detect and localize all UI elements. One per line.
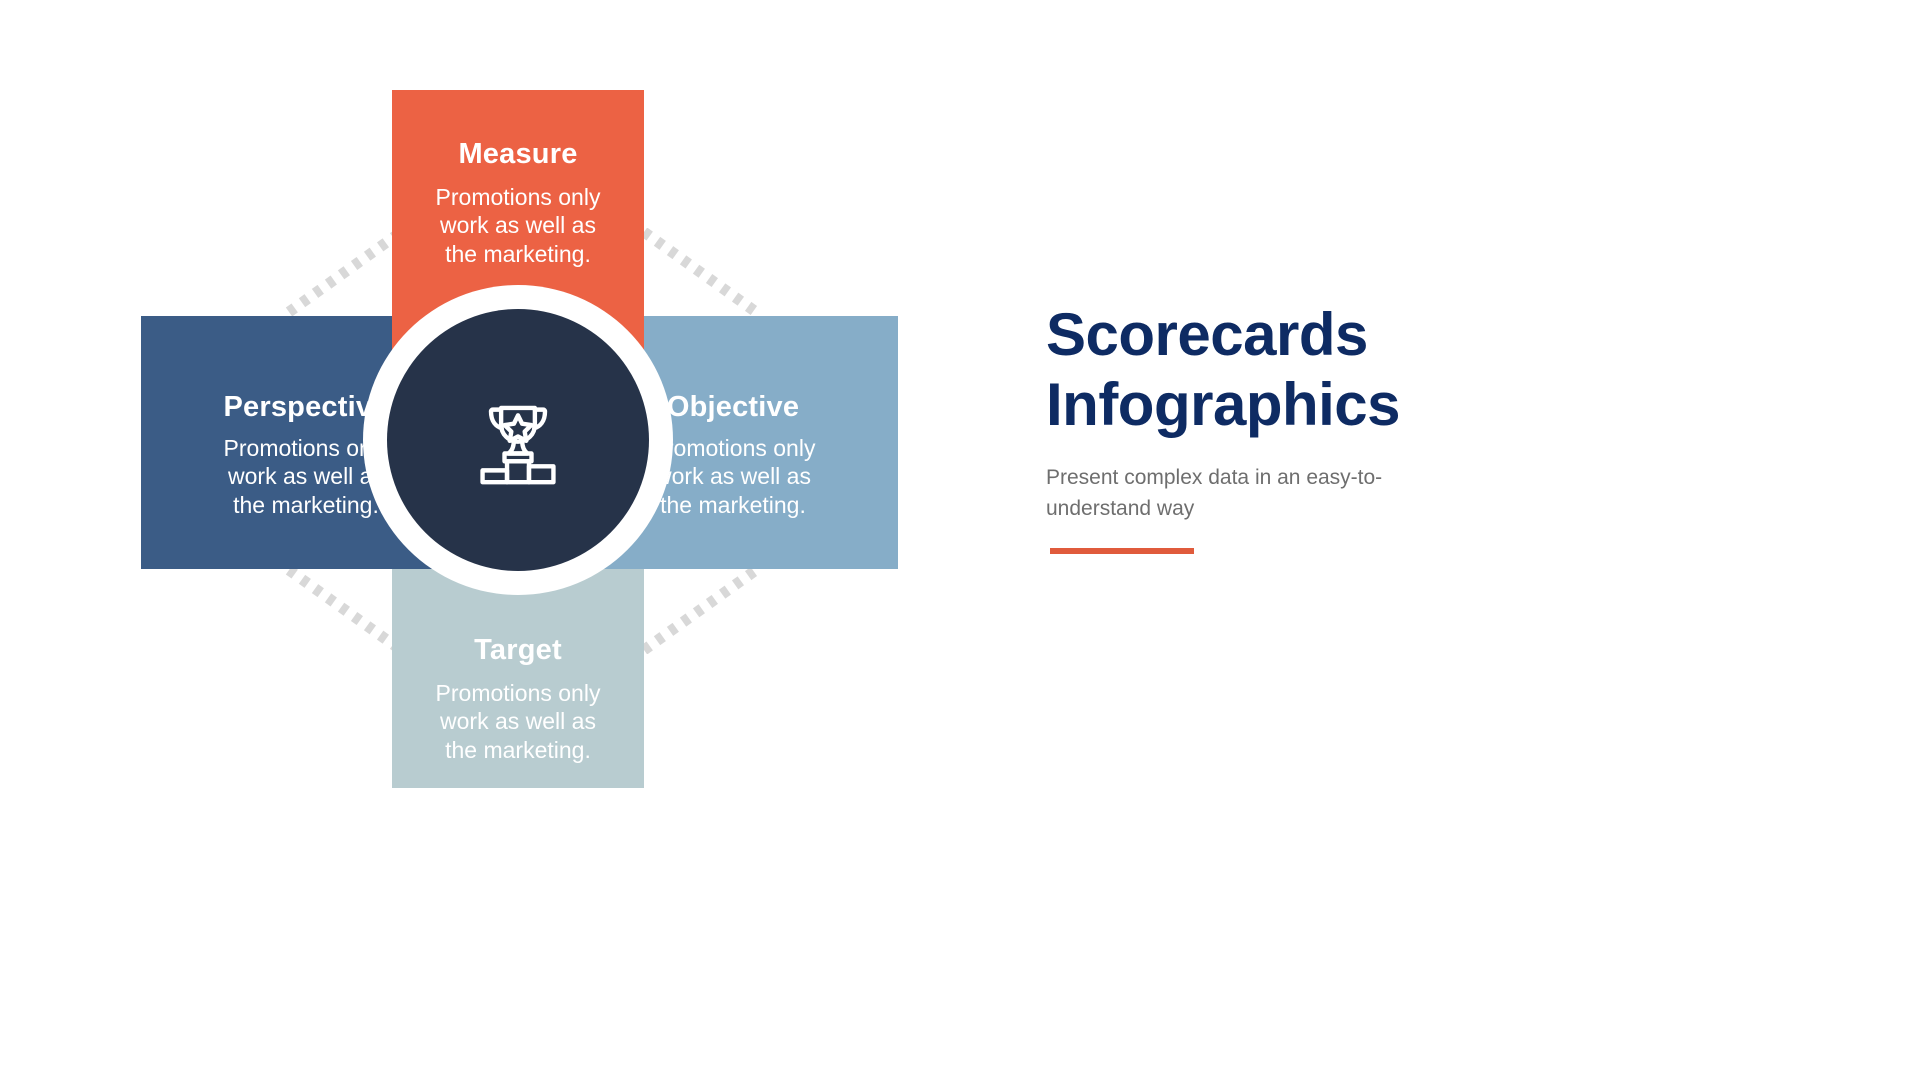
panel-target-body-line-1: Promotions only: [436, 679, 601, 707]
panel-target-body: Promotions only work as well as the mark…: [436, 679, 601, 764]
dotted-connector-bottom-left: [285, 566, 405, 654]
page-title-line-1: Scorecards: [1046, 300, 1486, 370]
panel-measure-body-line-1: Promotions only: [436, 183, 601, 211]
headline-block: Scorecards Infographics Present complex …: [1046, 300, 1486, 524]
slide-canvas: Target Promotions only work as well as t…: [0, 0, 1920, 1080]
page-title-line-2: Infographics: [1046, 370, 1486, 440]
panel-target-body-line-2: work as well as: [436, 707, 601, 735]
panel-measure-body-line-2: work as well as: [436, 211, 601, 239]
panel-measure-title: Measure: [458, 138, 577, 171]
dotted-connector-top-left: [285, 228, 405, 316]
dotted-connector-bottom-right: [640, 566, 760, 654]
accent-underline-bar: [1050, 548, 1194, 554]
panel-measure-body: Promotions only work as well as the mark…: [436, 183, 601, 268]
trophy-podium-icon: [464, 386, 572, 494]
center-medallion[interactable]: [363, 285, 673, 595]
panel-measure-body-line-3: the marketing.: [436, 240, 601, 268]
center-medallion-disc: [387, 309, 649, 571]
dotted-connector-top-right: [640, 228, 760, 316]
panel-target-body-line-3: the marketing.: [436, 736, 601, 764]
page-title: Scorecards Infographics: [1046, 300, 1486, 439]
panel-target-title: Target: [474, 634, 562, 667]
page-subtitle: Present complex data in an easy-to-under…: [1046, 463, 1431, 524]
